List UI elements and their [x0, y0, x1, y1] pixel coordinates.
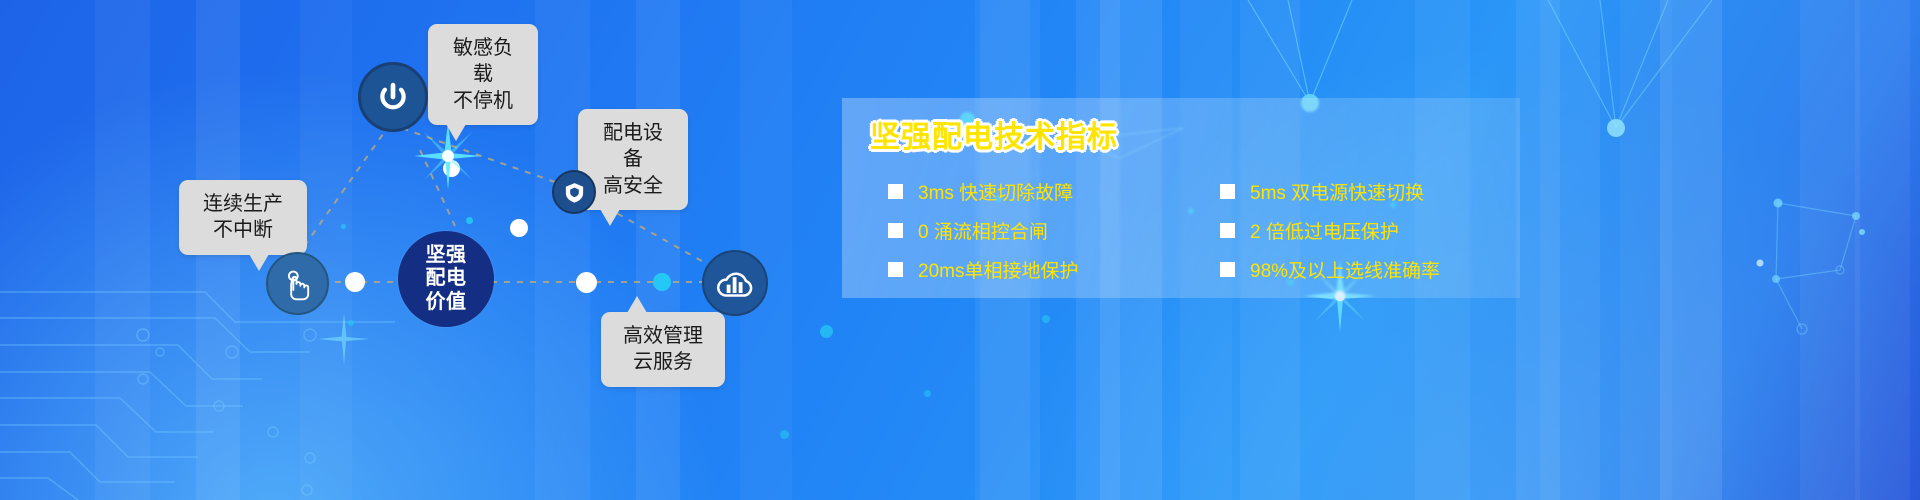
callout-line: 连续生产: [195, 191, 291, 217]
bullet-square-icon: [1220, 223, 1235, 238]
callout-tail: [600, 209, 620, 226]
node-cloud-chart-icon[interactable]: [702, 250, 768, 316]
cloud-chart-icon: [715, 267, 755, 299]
callout-continuous-production: 连续生产 不中断: [179, 180, 307, 255]
accent-dot: [820, 325, 833, 338]
bullet-square-icon: [888, 223, 903, 238]
link-node-dot: [576, 272, 597, 293]
indicator-label: 0 涌流相控合闸: [918, 217, 1048, 244]
shield-icon: [563, 181, 586, 204]
indicator-item: 20ms单相接地保护: [888, 250, 1188, 289]
center-hub-label: 坚强 配电 价值: [426, 244, 467, 315]
indicator-item: 0 涌流相控合闸: [888, 211, 1188, 250]
callout-line: 不中断: [195, 217, 291, 243]
callout-line: 高安全: [594, 173, 672, 199]
node-power-icon[interactable]: [358, 62, 428, 132]
indicator-item: 2 倍低过电压保护: [1220, 211, 1520, 250]
indicator-item: 3ms 快速切除故障: [888, 172, 1188, 211]
panel-title: 坚强配电技术指标: [870, 112, 1118, 156]
indicator-label: 3ms 快速切除故障: [918, 178, 1073, 205]
indicator-item: 5ms 双电源快速切换: [1220, 172, 1520, 211]
sparkle-icon: [315, 310, 373, 368]
accent-dot: [653, 273, 671, 291]
bullet-square-icon: [1220, 184, 1235, 199]
callout-cloud-management: 高效管理 云服务: [601, 312, 725, 387]
callout-line: 不停机: [444, 88, 522, 114]
indicator-label: 98%及以上选线准确率: [1250, 256, 1440, 283]
callout-sensitive-load: 敏感负载 不停机: [428, 24, 538, 125]
callout-line: 敏感负载: [444, 35, 522, 88]
callout-line: 高效管理: [617, 323, 709, 349]
accent-dot: [924, 390, 931, 397]
indicator-item: 98%及以上选线准确率: [1220, 250, 1520, 289]
callout-line: 云服务: [617, 349, 709, 375]
accent-dot: [341, 224, 346, 229]
bullet-square-icon: [888, 184, 903, 199]
callout-line: 配电设备: [594, 120, 672, 173]
link-node-dot: [443, 160, 460, 177]
banner-stage: 敏感负载 不停机 配电设备 高安全 连续生产 不中断 高效管理 云服务: [0, 0, 1920, 500]
power-icon: [376, 80, 410, 114]
hub-line: 坚强: [426, 244, 467, 268]
accent-dot: [466, 217, 473, 224]
center-hub[interactable]: 坚强 配电 价值: [398, 231, 494, 327]
node-touch-hand-icon[interactable]: [266, 252, 329, 315]
tech-indicators-panel: 坚强配电技术指标 3ms 快速切除故障 5ms 双电源快速切换 0 涌流相控合闸…: [842, 98, 1520, 298]
touch-hand-icon: [281, 267, 315, 301]
hub-line: 配电: [426, 267, 467, 291]
callout-tail: [446, 124, 466, 141]
accent-dot: [348, 320, 354, 326]
bullet-square-icon: [1220, 262, 1235, 277]
callout-tail: [249, 254, 269, 271]
bullet-square-icon: [888, 262, 903, 277]
callout-tail: [627, 296, 647, 313]
indicator-label: 20ms单相接地保护: [918, 256, 1078, 283]
link-node-dot: [510, 219, 528, 237]
link-node-dot: [345, 272, 365, 292]
indicator-label: 5ms 双电源快速切换: [1250, 178, 1424, 205]
tech-indicator-list: 3ms 快速切除故障 5ms 双电源快速切换 0 涌流相控合闸 2 倍低过电压保…: [888, 172, 1518, 289]
accent-dot: [1042, 315, 1050, 323]
node-shield-icon[interactable]: [552, 170, 596, 214]
indicator-label: 2 倍低过电压保护: [1250, 217, 1399, 244]
accent-dot: [780, 430, 789, 439]
hub-line: 价值: [426, 291, 467, 315]
